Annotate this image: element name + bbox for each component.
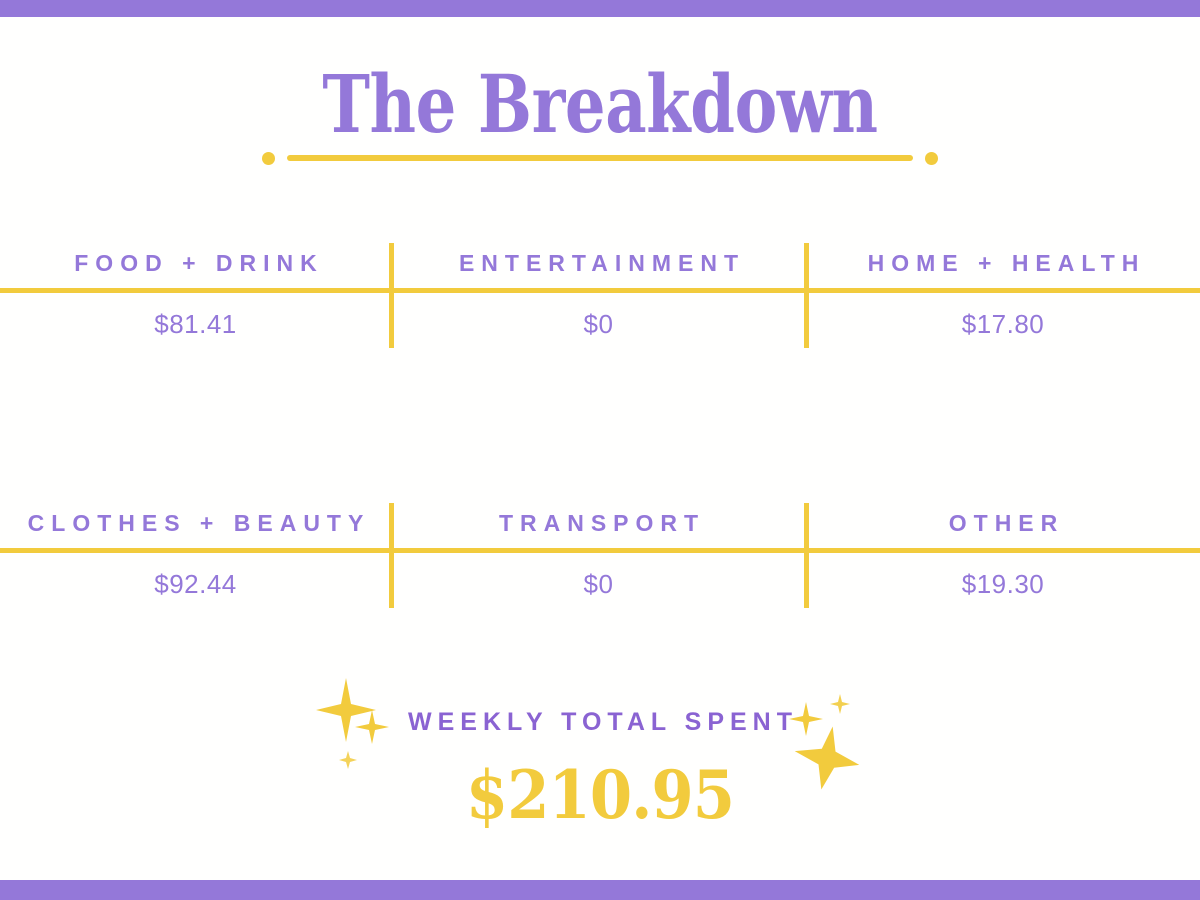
infographic-canvas: The Breakdown FOOD + DRINK $81.41 ENTERT… — [0, 0, 1200, 900]
weekly-total-section: WEEKLY TOTAL SPENT $210.95 — [0, 690, 1200, 830]
row-1-vertical-divider-2 — [804, 243, 809, 348]
category-label: HOME + HEALTH — [861, 238, 1146, 288]
weekly-total-amount: $210.95 — [48, 760, 1152, 830]
top-banner-bar — [0, 0, 1200, 17]
category-amount: $81.41 — [154, 309, 237, 340]
weekly-total-label-row: WEEKLY TOTAL SPENT — [402, 690, 798, 754]
category-amount: $17.80 — [962, 309, 1045, 340]
category-amount: $0 — [584, 309, 614, 340]
weekly-total-label: WEEKLY TOTAL SPENT — [402, 708, 798, 737]
category-label: OTHER — [942, 498, 1065, 548]
row-2-vertical-divider-1 — [389, 503, 394, 608]
category-label: ENTERTAINMENT — [452, 238, 745, 288]
category-label: TRANSPORT — [492, 498, 705, 548]
category-row-2: CLOTHES + BEAUTY $92.44 TRANSPORT $0 OTH… — [0, 498, 1200, 608]
category-amount: $19.30 — [962, 569, 1045, 600]
category-label: CLOTHES + BEAUTY — [21, 498, 371, 548]
category-cell-clothes-beauty: CLOTHES + BEAUTY $92.44 — [0, 498, 391, 608]
category-cell-food-drink: FOOD + DRINK $81.41 — [0, 238, 391, 348]
category-cell-entertainment: ENTERTAINMENT $0 — [391, 238, 806, 348]
row-1-vertical-divider-1 — [389, 243, 394, 348]
bottom-banner-bar — [0, 880, 1200, 900]
category-label: FOOD + DRINK — [67, 238, 323, 288]
dot-icon-right — [925, 152, 938, 165]
title-divider — [262, 150, 938, 166]
page-title-container: The Breakdown — [0, 62, 1200, 146]
row-2-vertical-divider-2 — [804, 503, 809, 608]
category-row-1: FOOD + DRINK $81.41 ENTERTAINMENT $0 HOM… — [0, 238, 1200, 348]
category-cell-home-health: HOME + HEALTH $17.80 — [806, 238, 1200, 348]
divider-line — [287, 155, 913, 161]
page-title: The Breakdown — [120, 62, 1080, 146]
category-amount: $92.44 — [154, 569, 237, 600]
category-amount: $0 — [584, 569, 614, 600]
category-cell-other: OTHER $19.30 — [806, 498, 1200, 608]
category-cell-transport: TRANSPORT $0 — [391, 498, 806, 608]
dot-icon-left — [262, 152, 275, 165]
